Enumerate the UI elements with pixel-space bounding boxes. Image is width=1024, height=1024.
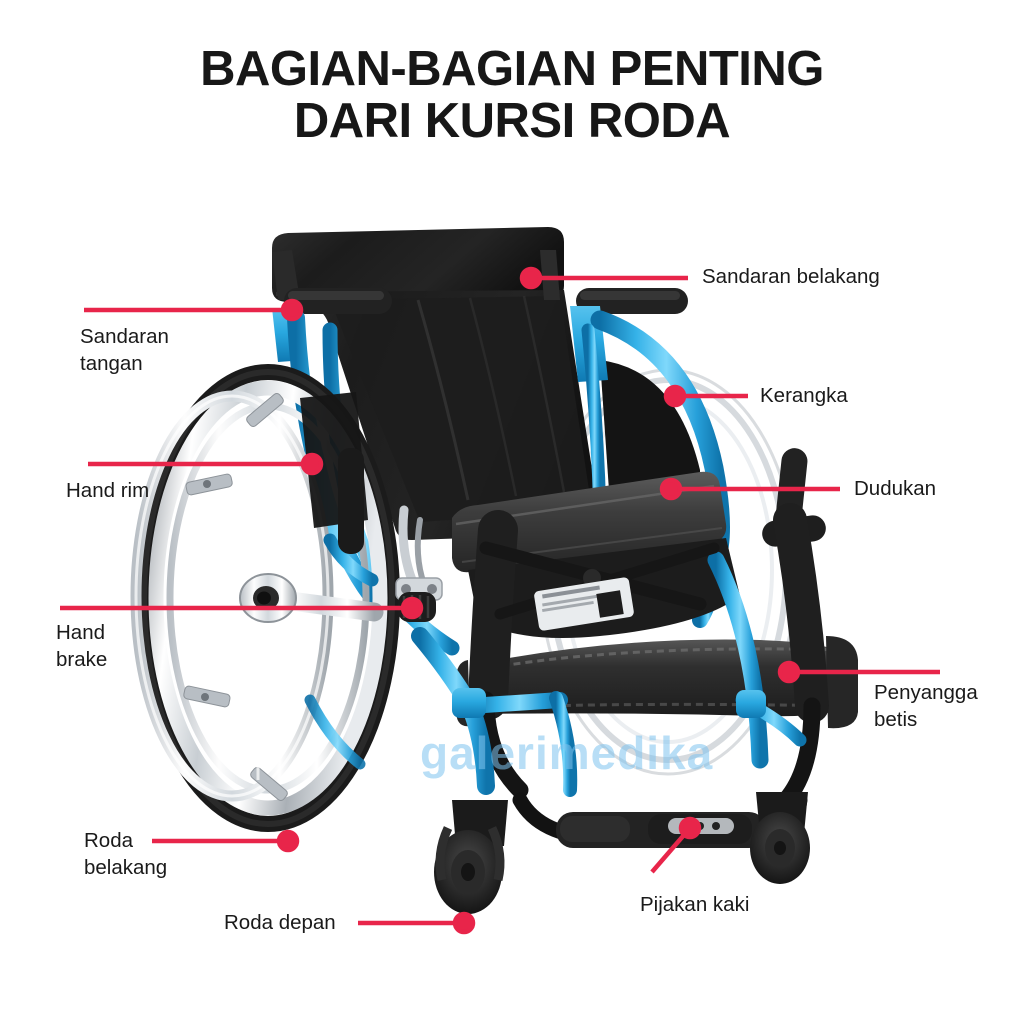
- callout-label-roda-belakang: Roda belakang: [84, 828, 167, 881]
- callout-label-hand-rim: Hand rim: [66, 478, 149, 505]
- callout-label-penyangga-betis: Penyangga betis: [874, 680, 978, 733]
- callout-label-hand-brake: Hand brake: [56, 620, 107, 673]
- callout-label-kerangka: Kerangka: [760, 383, 848, 410]
- callout-label-dudukan: Dudukan: [854, 476, 936, 503]
- callout-label-sandaran-belakang: Sandaran belakang: [702, 264, 880, 291]
- infographic-canvas: BAGIAN-BAGIAN PENTING DARI KURSI RODA: [0, 0, 1024, 1024]
- callout-label-sandaran-tangan: Sandaran tangan: [80, 324, 169, 377]
- callout-label-roda-depan: Roda depan: [224, 910, 336, 937]
- callout-label-pijakan-kaki: Pijakan kaki: [640, 892, 749, 919]
